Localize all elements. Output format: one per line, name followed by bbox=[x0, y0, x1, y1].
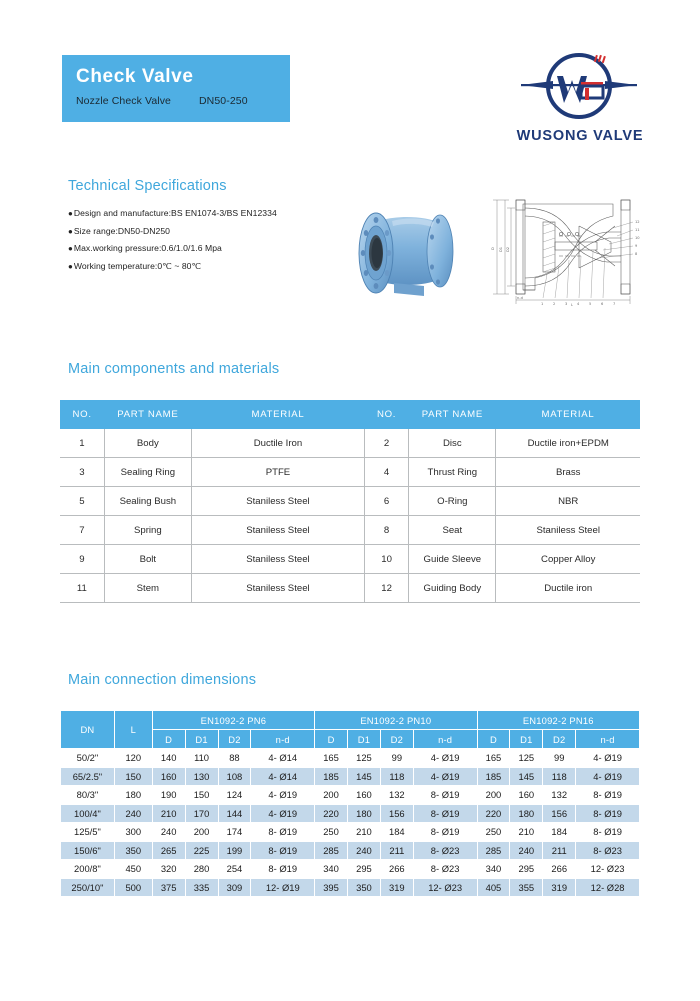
cell-no: 5 bbox=[60, 487, 104, 516]
cell-pn16-d1: 125 bbox=[510, 749, 543, 768]
col-l: L bbox=[114, 711, 152, 749]
cell-part: Guide Sleeve bbox=[409, 545, 496, 574]
table-row: 150/6" 350 265 225 199 8- Ø19 285 240 21… bbox=[61, 841, 640, 860]
main-components-heading: Main components and materials bbox=[68, 361, 279, 377]
cell-material: NBR bbox=[496, 487, 640, 516]
components-table: NO. PART NAME MATERIAL NO. PART NAME MAT… bbox=[60, 400, 640, 603]
cell-l: 120 bbox=[114, 749, 152, 768]
cell-dn: 200/8" bbox=[61, 860, 115, 879]
cell-part: Spring bbox=[104, 516, 191, 545]
cell-pn6-d: 190 bbox=[152, 786, 185, 805]
cell-part: Disc bbox=[409, 429, 496, 458]
svg-text:D2: D2 bbox=[506, 247, 510, 252]
cell-pn6-d: 265 bbox=[152, 841, 185, 860]
dimensions-header-row-groups: DN L EN1092-2 PN6 EN1092-2 PN10 EN1092-2… bbox=[61, 711, 640, 730]
cell-pn6-d1: 200 bbox=[185, 823, 218, 842]
cell-pn16-nd: 8- Ø23 bbox=[576, 841, 640, 860]
col-pn6-nd: n-d bbox=[251, 730, 315, 749]
cell-dn: 250/10" bbox=[61, 878, 115, 897]
cell-pn6-d1: 335 bbox=[185, 878, 218, 897]
cell-pn6-d1: 225 bbox=[185, 841, 218, 860]
bullet-icon: ● bbox=[68, 262, 73, 271]
table-row: 3 Sealing Ring PTFE 4 Thrust Ring Brass bbox=[60, 458, 640, 487]
table-row: 11 Stem Staniless Steel 12 Guiding Body … bbox=[60, 574, 640, 603]
spec-item: ●Max.working pressure:0.6/1.0/1.6 Mpa bbox=[68, 240, 338, 258]
cell-pn10-d2: 99 bbox=[380, 749, 413, 768]
cell-part: Body bbox=[104, 429, 191, 458]
cell-pn10-d1: 240 bbox=[348, 841, 381, 860]
cell-no: 11 bbox=[60, 574, 104, 603]
cell-pn16-d2: 266 bbox=[543, 860, 576, 879]
cell-pn10-nd: 8- Ø23 bbox=[413, 841, 477, 860]
cell-l: 180 bbox=[114, 786, 152, 805]
svg-text:1: 1 bbox=[541, 302, 543, 306]
cell-part: Sealing Bush bbox=[104, 487, 191, 516]
group-pn16: EN1092-2 PN16 bbox=[477, 711, 640, 730]
cell-pn10-d: 285 bbox=[315, 841, 348, 860]
dimensions-table: DN L EN1092-2 PN6 EN1092-2 PN10 EN1092-2… bbox=[60, 710, 640, 897]
cell-material: Ductile iron bbox=[496, 574, 640, 603]
cell-pn16-d1: 210 bbox=[510, 823, 543, 842]
col-pn6-d2: D2 bbox=[218, 730, 251, 749]
cell-pn6-nd: 12- Ø19 bbox=[251, 878, 315, 897]
cell-pn16-d: 250 bbox=[477, 823, 510, 842]
cell-pn10-d: 250 bbox=[315, 823, 348, 842]
cell-pn16-nd: 4- Ø19 bbox=[576, 767, 640, 786]
svg-text:12: 12 bbox=[635, 220, 640, 224]
cell-part: Stem bbox=[104, 574, 191, 603]
cell-pn10-d1: 295 bbox=[348, 860, 381, 879]
cell-l: 450 bbox=[114, 860, 152, 879]
cell-pn6-d2: 174 bbox=[218, 823, 251, 842]
cell-pn6-d2: 199 bbox=[218, 841, 251, 860]
svg-text:9: 9 bbox=[635, 244, 638, 248]
cell-pn10-nd: 12- Ø23 bbox=[413, 878, 477, 897]
cell-pn10-d1: 180 bbox=[348, 804, 381, 823]
cell-pn16-d2: 132 bbox=[543, 786, 576, 805]
cell-material: Ductile Iron bbox=[191, 429, 364, 458]
cell-l: 500 bbox=[114, 878, 152, 897]
cell-l: 150 bbox=[114, 767, 152, 786]
title-block: Check Valve Nozzle Check Valve DN50-250 bbox=[62, 55, 290, 122]
cell-pn10-nd: 8- Ø19 bbox=[413, 786, 477, 805]
cell-no: 8 bbox=[364, 516, 408, 545]
cell-pn10-d2: 132 bbox=[380, 786, 413, 805]
cell-material: Staniless Steel bbox=[191, 487, 364, 516]
cell-dn: 80/3" bbox=[61, 786, 115, 805]
col-no-1: NO. bbox=[60, 400, 104, 429]
cell-pn16-nd: 12- Ø23 bbox=[576, 860, 640, 879]
cell-material: Ductile iron+EPDM bbox=[496, 429, 640, 458]
group-pn6: EN1092-2 PN6 bbox=[152, 711, 314, 730]
bullet-icon: ● bbox=[68, 244, 73, 253]
cell-pn6-d2: 108 bbox=[218, 767, 251, 786]
table-row: 5 Sealing Bush Staniless Steel 6 O-Ring … bbox=[60, 487, 640, 516]
cell-pn6-nd: 8- Ø19 bbox=[251, 841, 315, 860]
cell-pn6-d1: 130 bbox=[185, 767, 218, 786]
bullet-icon: ● bbox=[68, 209, 73, 218]
company-logo: WUSONG VALVE bbox=[495, 48, 665, 153]
cell-dn: 125/5" bbox=[61, 823, 115, 842]
cell-no: 6 bbox=[364, 487, 408, 516]
col-material-2: MATERIAL bbox=[496, 400, 640, 429]
cell-pn10-d: 165 bbox=[315, 749, 348, 768]
col-pn10-nd: n-d bbox=[413, 730, 477, 749]
svg-text:5: 5 bbox=[589, 302, 591, 306]
svg-text:4: 4 bbox=[577, 302, 580, 306]
dimensions-table-head: DN L EN1092-2 PN6 EN1092-2 PN10 EN1092-2… bbox=[61, 711, 640, 749]
table-row: 65/2.5" 150 160 130 108 4- Ø14 185 145 1… bbox=[61, 767, 640, 786]
cell-pn10-d: 185 bbox=[315, 767, 348, 786]
cell-no: 7 bbox=[60, 516, 104, 545]
cell-pn16-d2: 184 bbox=[543, 823, 576, 842]
table-row: 125/5" 300 240 200 174 8- Ø19 250 210 18… bbox=[61, 823, 640, 842]
cell-pn16-d: 340 bbox=[477, 860, 510, 879]
technical-specifications-heading: Technical Specifications bbox=[68, 178, 227, 194]
col-pn16-nd: n-d bbox=[576, 730, 640, 749]
cell-pn10-nd: 8- Ø19 bbox=[413, 823, 477, 842]
title-subrow: Nozzle Check Valve DN50-250 bbox=[76, 95, 290, 107]
cell-pn6-nd: 4- Ø19 bbox=[251, 786, 315, 805]
cell-pn16-d2: 156 bbox=[543, 804, 576, 823]
cell-pn10-d2: 184 bbox=[380, 823, 413, 842]
cell-pn16-nd: 12- Ø28 bbox=[576, 878, 640, 897]
col-no-2: NO. bbox=[364, 400, 408, 429]
table-row: 50/2" 120 140 110 88 4- Ø14 165 125 99 4… bbox=[61, 749, 640, 768]
dimensions-table-body: 50/2" 120 140 110 88 4- Ø14 165 125 99 4… bbox=[61, 749, 640, 897]
svg-text:n-d: n-d bbox=[517, 296, 523, 300]
col-material-1: MATERIAL bbox=[191, 400, 364, 429]
svg-text:D1: D1 bbox=[499, 247, 503, 252]
cell-pn10-d: 200 bbox=[315, 786, 348, 805]
group-pn10: EN1092-2 PN10 bbox=[315, 711, 477, 730]
cell-pn10-d1: 350 bbox=[348, 878, 381, 897]
col-pn6-d: D bbox=[152, 730, 185, 749]
svg-text:11: 11 bbox=[635, 228, 640, 232]
cell-pn6-d: 160 bbox=[152, 767, 185, 786]
cell-no: 3 bbox=[60, 458, 104, 487]
cell-part: Thrust Ring bbox=[409, 458, 496, 487]
spec-text: Max.working pressure:0.6/1.0/1.6 Mpa bbox=[74, 243, 222, 253]
col-pn6-d1: D1 bbox=[185, 730, 218, 749]
cell-material: PTFE bbox=[191, 458, 364, 487]
table-row: 100/4" 240 210 170 144 4- Ø19 220 180 15… bbox=[61, 804, 640, 823]
cell-no: 4 bbox=[364, 458, 408, 487]
spec-item: ●Size range:DN50-DN250 bbox=[68, 223, 338, 241]
cell-no: 12 bbox=[364, 574, 408, 603]
cell-pn16-d2: 211 bbox=[543, 841, 576, 860]
cell-part: Guiding Body bbox=[409, 574, 496, 603]
cell-part: O-Ring bbox=[409, 487, 496, 516]
cell-pn16-d: 220 bbox=[477, 804, 510, 823]
cell-pn6-nd: 4- Ø14 bbox=[251, 749, 315, 768]
cell-l: 350 bbox=[114, 841, 152, 860]
col-pn16-d1: D1 bbox=[510, 730, 543, 749]
cell-pn10-nd: 8- Ø19 bbox=[413, 804, 477, 823]
col-pn16-d: D bbox=[477, 730, 510, 749]
cell-pn16-d1: 240 bbox=[510, 841, 543, 860]
cell-pn10-d2: 118 bbox=[380, 767, 413, 786]
cell-pn6-d1: 110 bbox=[185, 749, 218, 768]
table-row: 1 Body Ductile Iron 2 Disc Ductile iron+… bbox=[60, 429, 640, 458]
cell-pn10-d: 340 bbox=[315, 860, 348, 879]
cell-pn10-nd: 4- Ø19 bbox=[413, 767, 477, 786]
cell-dn: 100/4" bbox=[61, 804, 115, 823]
cell-material: Staniless Steel bbox=[496, 516, 640, 545]
components-table-body: 1 Body Ductile Iron 2 Disc Ductile iron+… bbox=[60, 429, 640, 603]
cell-pn6-d1: 150 bbox=[185, 786, 218, 805]
cell-pn6-d2: 88 bbox=[218, 749, 251, 768]
cell-pn16-d: 165 bbox=[477, 749, 510, 768]
svg-text:2: 2 bbox=[553, 302, 555, 306]
col-part-name-2: PART NAME bbox=[409, 400, 496, 429]
cell-pn16-nd: 8- Ø19 bbox=[576, 786, 640, 805]
cell-pn16-d1: 180 bbox=[510, 804, 543, 823]
product-photo bbox=[332, 193, 482, 305]
cell-pn10-d1: 145 bbox=[348, 767, 381, 786]
cell-pn6-nd: 8- Ø19 bbox=[251, 860, 315, 879]
cell-pn6-d: 210 bbox=[152, 804, 185, 823]
svg-text:D: D bbox=[491, 247, 495, 250]
spec-item: ●Working temperature:0℃ ~ 80℃ bbox=[68, 258, 338, 276]
specifications-list: ●Design and manufacture:BS EN1074-3/BS E… bbox=[68, 205, 338, 275]
cell-pn16-d2: 118 bbox=[543, 767, 576, 786]
cell-pn16-d: 405 bbox=[477, 878, 510, 897]
cell-no: 10 bbox=[364, 545, 408, 574]
cell-pn6-d: 320 bbox=[152, 860, 185, 879]
cell-pn10-d: 220 bbox=[315, 804, 348, 823]
table-row: 7 Spring Staniless Steel 8 Seat Staniles… bbox=[60, 516, 640, 545]
cell-part: Seat bbox=[409, 516, 496, 545]
cell-l: 240 bbox=[114, 804, 152, 823]
section-drawing: D D1 D2 L 12 11 10 9 8 1 2 3 4 5 6 7 n-d bbox=[483, 186, 663, 308]
cell-pn16-nd: 8- Ø19 bbox=[576, 804, 640, 823]
svg-text:6: 6 bbox=[601, 302, 604, 306]
cell-pn6-d: 240 bbox=[152, 823, 185, 842]
cell-pn16-d: 185 bbox=[477, 767, 510, 786]
cell-pn6-d2: 124 bbox=[218, 786, 251, 805]
cell-pn10-nd: 8- Ø23 bbox=[413, 860, 477, 879]
table-row: 250/10" 500 375 335 309 12- Ø19 395 350 … bbox=[61, 878, 640, 897]
cell-pn6-d: 375 bbox=[152, 878, 185, 897]
cell-pn16-nd: 8- Ø19 bbox=[576, 823, 640, 842]
page-header: Check Valve Nozzle Check Valve DN50-250 … bbox=[0, 0, 700, 165]
cell-pn16-d: 285 bbox=[477, 841, 510, 860]
cell-no: 2 bbox=[364, 429, 408, 458]
spec-item: ●Design and manufacture:BS EN1074-3/BS E… bbox=[68, 205, 338, 223]
cell-pn6-d2: 144 bbox=[218, 804, 251, 823]
cell-material: Brass bbox=[496, 458, 640, 487]
cell-dn: 50/2" bbox=[61, 749, 115, 768]
size-range-badge: DN50-250 bbox=[199, 95, 248, 107]
cell-pn6-d1: 170 bbox=[185, 804, 218, 823]
spec-text: Size range:DN50-DN250 bbox=[74, 226, 170, 236]
spec-text: Working temperature:0℃ ~ 80℃ bbox=[74, 261, 201, 271]
cell-pn10-d1: 210 bbox=[348, 823, 381, 842]
cell-pn6-d2: 309 bbox=[218, 878, 251, 897]
cell-pn16-d2: 99 bbox=[543, 749, 576, 768]
cell-l: 300 bbox=[114, 823, 152, 842]
cell-no: 9 bbox=[60, 545, 104, 574]
svg-text:7: 7 bbox=[613, 302, 615, 306]
cell-pn10-d2: 211 bbox=[380, 841, 413, 860]
bullet-icon: ● bbox=[68, 227, 73, 236]
cell-material: Staniless Steel bbox=[191, 574, 364, 603]
cell-pn6-nd: 4- Ø14 bbox=[251, 767, 315, 786]
cell-pn6-d2: 254 bbox=[218, 860, 251, 879]
cell-dn: 65/2.5" bbox=[61, 767, 115, 786]
cell-pn16-d1: 160 bbox=[510, 786, 543, 805]
cell-dn: 150/6" bbox=[61, 841, 115, 860]
svg-text:10: 10 bbox=[635, 236, 640, 240]
cell-material: Copper Alloy bbox=[496, 545, 640, 574]
cell-pn10-d1: 160 bbox=[348, 786, 381, 805]
cell-pn10-d2: 319 bbox=[380, 878, 413, 897]
cell-pn10-d2: 156 bbox=[380, 804, 413, 823]
cell-pn10-d2: 266 bbox=[380, 860, 413, 879]
spec-text: Design and manufacture:BS EN1074-3/BS EN… bbox=[74, 208, 277, 218]
cell-pn10-d: 395 bbox=[315, 878, 348, 897]
components-header-row: NO. PART NAME MATERIAL NO. PART NAME MAT… bbox=[60, 400, 640, 429]
col-pn10-d2: D2 bbox=[380, 730, 413, 749]
cell-pn10-nd: 4- Ø19 bbox=[413, 749, 477, 768]
cell-material: Staniless Steel bbox=[191, 516, 364, 545]
table-row: 9 Bolt Staniless Steel 10 Guide Sleeve C… bbox=[60, 545, 640, 574]
cell-pn16-d1: 355 bbox=[510, 878, 543, 897]
svg-text:8: 8 bbox=[635, 252, 638, 256]
cell-pn6-d1: 280 bbox=[185, 860, 218, 879]
page-subtitle: Nozzle Check Valve bbox=[76, 95, 171, 107]
cell-pn16-d1: 145 bbox=[510, 767, 543, 786]
cell-pn10-d1: 125 bbox=[348, 749, 381, 768]
page-title: Check Valve bbox=[76, 65, 290, 89]
cell-part: Bolt bbox=[104, 545, 191, 574]
cell-pn16-d1: 295 bbox=[510, 860, 543, 879]
cell-pn16-nd: 4- Ø19 bbox=[576, 749, 640, 768]
svg-text:3: 3 bbox=[565, 302, 567, 306]
wusong-logo-icon bbox=[519, 48, 639, 124]
col-pn10-d: D bbox=[315, 730, 348, 749]
col-pn10-d1: D1 bbox=[348, 730, 381, 749]
cell-pn6-nd: 4- Ø19 bbox=[251, 804, 315, 823]
cell-no: 1 bbox=[60, 429, 104, 458]
svg-text:L: L bbox=[571, 303, 573, 307]
col-dn: DN bbox=[61, 711, 115, 749]
table-row: 80/3" 180 190 150 124 4- Ø19 200 160 132… bbox=[61, 786, 640, 805]
cell-pn16-d: 200 bbox=[477, 786, 510, 805]
cell-material: Staniless Steel bbox=[191, 545, 364, 574]
col-pn16-d2: D2 bbox=[543, 730, 576, 749]
cell-part: Sealing Ring bbox=[104, 458, 191, 487]
col-part-name-1: PART NAME bbox=[104, 400, 191, 429]
cell-pn16-d2: 319 bbox=[543, 878, 576, 897]
main-connection-dimensions-heading: Main connection dimensions bbox=[68, 672, 256, 688]
cell-pn6-nd: 8- Ø19 bbox=[251, 823, 315, 842]
components-table-head: NO. PART NAME MATERIAL NO. PART NAME MAT… bbox=[60, 400, 640, 429]
cell-pn6-d: 140 bbox=[152, 749, 185, 768]
table-row: 200/8" 450 320 280 254 8- Ø19 340 295 26… bbox=[61, 860, 640, 879]
brand-name: WUSONG VALVE bbox=[495, 128, 665, 144]
